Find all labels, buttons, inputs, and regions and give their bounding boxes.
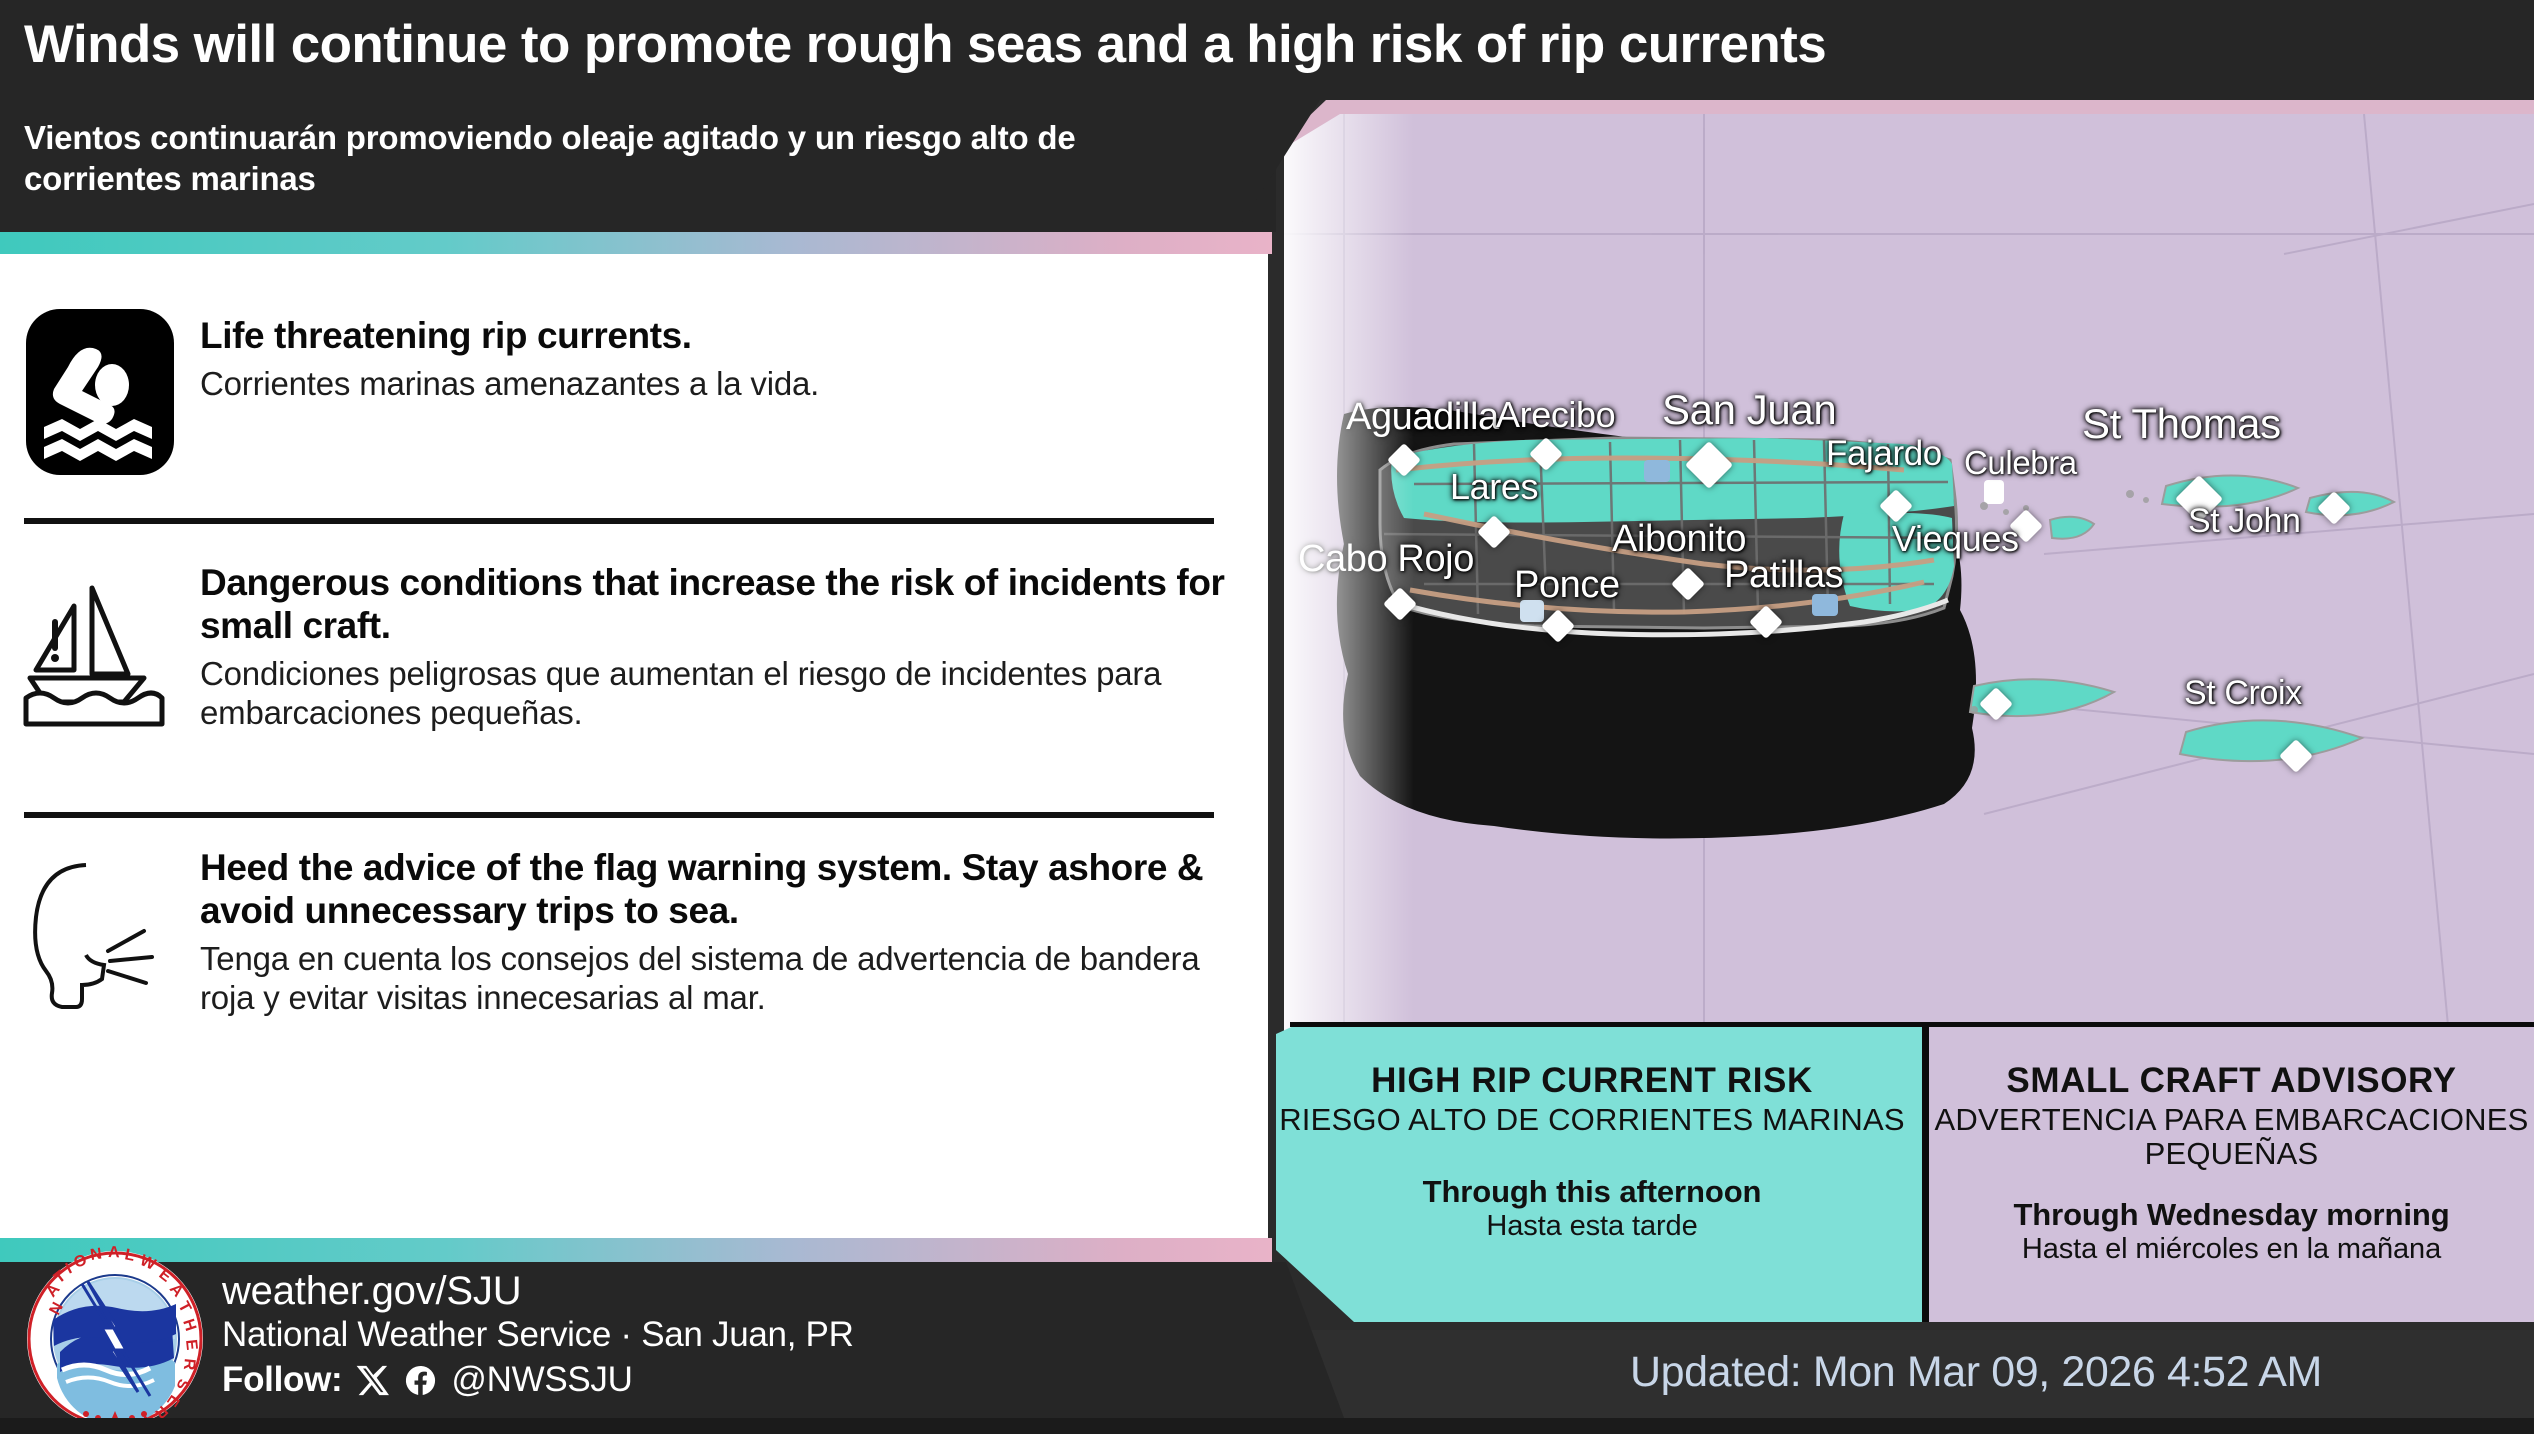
sailboat-warning-icon — [12, 562, 188, 738]
x-twitter-icon[interactable] — [355, 1363, 390, 1398]
map-label-lares: Lares — [1450, 466, 1538, 508]
follow-label: Follow: — [222, 1360, 342, 1400]
legend-row: HIGH RIP CURRENT RISK RIESGO ALTO DE COR… — [1262, 1024, 2534, 1322]
legend-1-title-es: ADVERTENCIA PARA EMBARCACIONES PEQUEÑAS — [1929, 1103, 2534, 1172]
list-item: Dangerous conditions that increase the r… — [0, 562, 1240, 738]
svg-text:E: E — [182, 1339, 200, 1352]
divider-1 — [24, 518, 1214, 524]
map-label-vieques: Vieques — [1892, 518, 2019, 560]
bullet-2-text: Dangerous conditions that increase the r… — [200, 562, 1240, 738]
legend-high-rip-current-risk[interactable]: HIGH RIP CURRENT RISK RIESGO ALTO DE COR… — [1262, 1024, 1922, 1322]
bullet-1-title-en: Life threatening rip currents. — [200, 315, 1226, 358]
hazard-bullet-list: Life threatening rip currents. Corriente… — [0, 254, 1250, 1238]
map-label-arecibo: Arecibo — [1496, 394, 1615, 436]
map-label-culebra: Culebra — [1964, 444, 2077, 482]
bottom-strip — [0, 1418, 2534, 1434]
bullet-1-text: Life threatening rip currents. Corriente… — [200, 309, 1240, 475]
map-label-aguadilla: Aguadilla — [1346, 396, 1499, 439]
legend-1-when-en: Through Wednesday morning — [1929, 1198, 2534, 1233]
bullet-1-icon-wrap — [0, 309, 200, 475]
map-label-cabo-rojo: Cabo Rojo — [1298, 538, 1474, 581]
list-item: Heed the advice of the flag warning syst… — [0, 847, 1240, 1037]
svg-text:R: R — [180, 1358, 198, 1372]
office-name: National Weather Service · San Juan, PR — [222, 1315, 854, 1355]
map-label-san-juan: San Juan — [1662, 386, 1836, 434]
legend-0-when-es: Hasta esta tarde — [1262, 1210, 1922, 1242]
map-label-patillas: Patillas — [1724, 554, 1843, 597]
map-label-fajardo: Fajardo — [1826, 434, 1942, 474]
svg-text:N: N — [89, 1246, 103, 1264]
svg-text:A: A — [108, 1246, 121, 1261]
footer-text: weather.gov/SJU National Weather Service… — [222, 1270, 854, 1400]
facebook-icon[interactable] — [403, 1363, 438, 1398]
list-item: Life threatening rip currents. Corriente… — [0, 309, 1240, 475]
bullet-3-title-es: Tenga en cuenta los consejos del sistema… — [200, 940, 1226, 1018]
headline-english: Winds will continue to promote rough sea… — [24, 14, 2484, 75]
legend-0-title-en: HIGH RIP CURRENT RISK — [1262, 1062, 1922, 1101]
bullet-2-title-en: Dangerous conditions that increase the r… — [200, 562, 1226, 648]
bullet-3-title-en: Heed the advice of the flag warning syst… — [200, 847, 1226, 933]
legend-1-when-es: Hasta el miércoles en la mañana — [1929, 1233, 2534, 1265]
map-label-ponce: Ponce — [1514, 564, 1620, 607]
map-label-st-thomas: St Thomas — [2082, 400, 2281, 448]
weather-graphic: Winds will continue to promote rough sea… — [0, 0, 2534, 1434]
updated-timestamp: Updated: Mon Mar 09, 2026 4:52 AM — [1630, 1348, 2322, 1397]
legend-1-title-en: SMALL CRAFT ADVISORY — [1929, 1062, 2534, 1101]
bullet-2-title-es: Condiciones peligrosas que aumentan el r… — [200, 655, 1226, 733]
divider-2 — [24, 812, 1214, 818]
legend-0-when-en: Through this afternoon — [1262, 1175, 1922, 1210]
bullet-2-icon-wrap — [0, 562, 200, 738]
bullet-3-text: Heed the advice of the flag warning syst… — [200, 847, 1240, 1037]
map-label-st-croix: St Croix — [2184, 674, 2302, 713]
social-handle: @NWSSJU — [451, 1360, 632, 1400]
legend-0-title-es: RIESGO ALTO DE CORRIENTES MARINAS — [1262, 1103, 1922, 1138]
headline-spanish: Vientos continuarán promoviendo oleaje a… — [24, 118, 1234, 199]
bullet-3-icon-wrap — [0, 847, 200, 1037]
legend-top-border — [1290, 1022, 2534, 1027]
map-label-st-john: St John — [2188, 502, 2301, 541]
accent-bar-top — [0, 232, 1272, 254]
speaking-head-icon — [12, 847, 188, 1037]
legend-small-craft-advisory[interactable]: SMALL CRAFT ADVISORY ADVERTENCIA PARA EM… — [1922, 1024, 2534, 1322]
weather-gov-url[interactable]: weather.gov/SJU — [222, 1270, 854, 1312]
swimmer-in-waves-icon — [26, 309, 174, 475]
follow-row: Follow: @NWSSJU — [222, 1360, 854, 1400]
national-weather-service-logo: N A T I O N A L W E A T H E R S E R V — [22, 1246, 208, 1432]
bullet-1-title-es: Corrientes marinas amenazantes a la vida… — [200, 365, 1226, 404]
